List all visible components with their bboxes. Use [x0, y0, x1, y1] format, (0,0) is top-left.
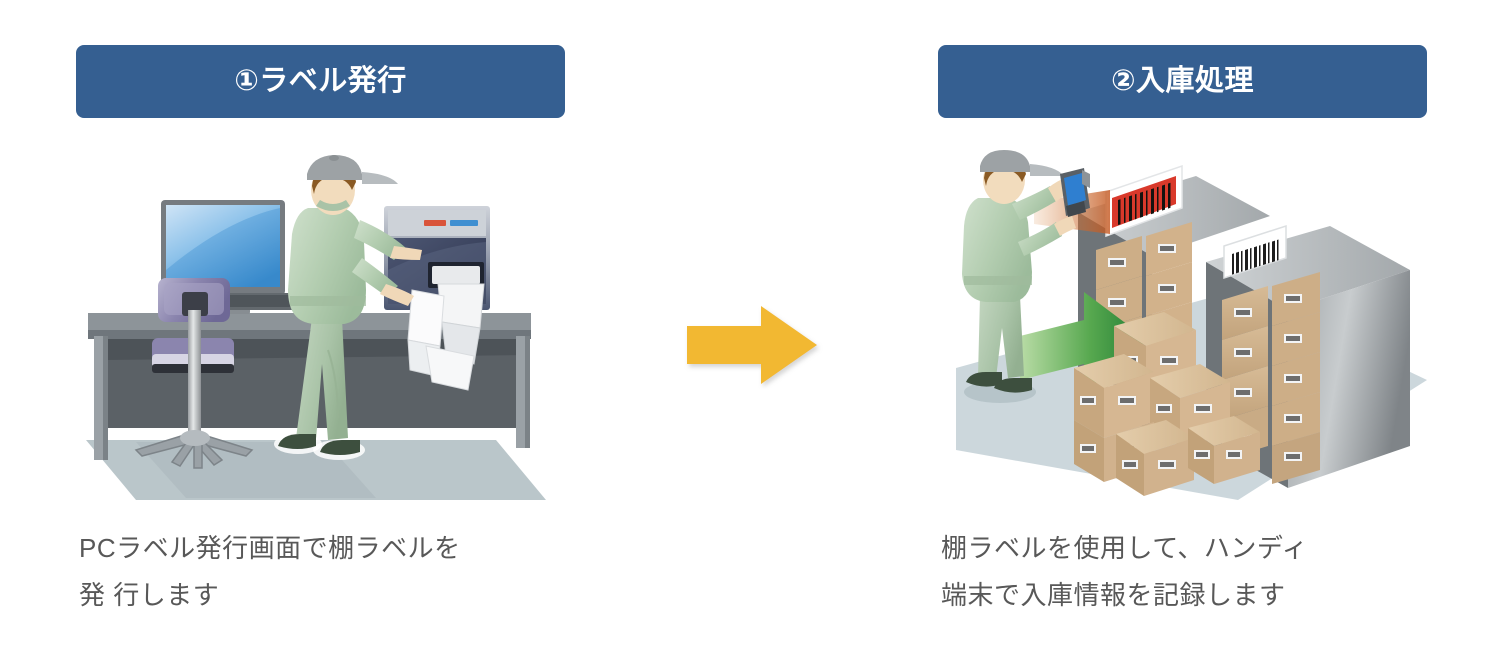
step-2-header-label: ②入庫処理 — [1111, 67, 1254, 96]
step-panel-2: ②入庫処理 — [938, 0, 1427, 659]
warehouse-scanning-illustration — [938, 150, 1427, 510]
desk-leg-right-shade — [525, 336, 530, 448]
right-arrow-icon — [687, 306, 817, 384]
desk-leg-left-shade — [103, 336, 108, 460]
step-1-caption: PCラベル発行画面で棚ラベルを 発 行します — [79, 525, 565, 619]
step-1-header: ①ラベル発行 — [76, 45, 565, 118]
pc-label-printing-illustration — [76, 150, 565, 510]
step-panel-1: ①ラベル発行 — [76, 0, 565, 659]
flow-arrow — [683, 300, 823, 390]
printer-indicator-red — [424, 220, 446, 226]
workflow-diagram: ①ラベル発行 — [0, 0, 1493, 659]
step-2-caption: 棚ラベルを使用して、ハンディ 端末で入庫情報を記録します — [941, 525, 1427, 619]
step-1-header-label: ①ラベル発行 — [234, 67, 407, 96]
printer-indicator-blue — [450, 220, 478, 226]
step-2-header: ②入庫処理 — [938, 45, 1427, 118]
